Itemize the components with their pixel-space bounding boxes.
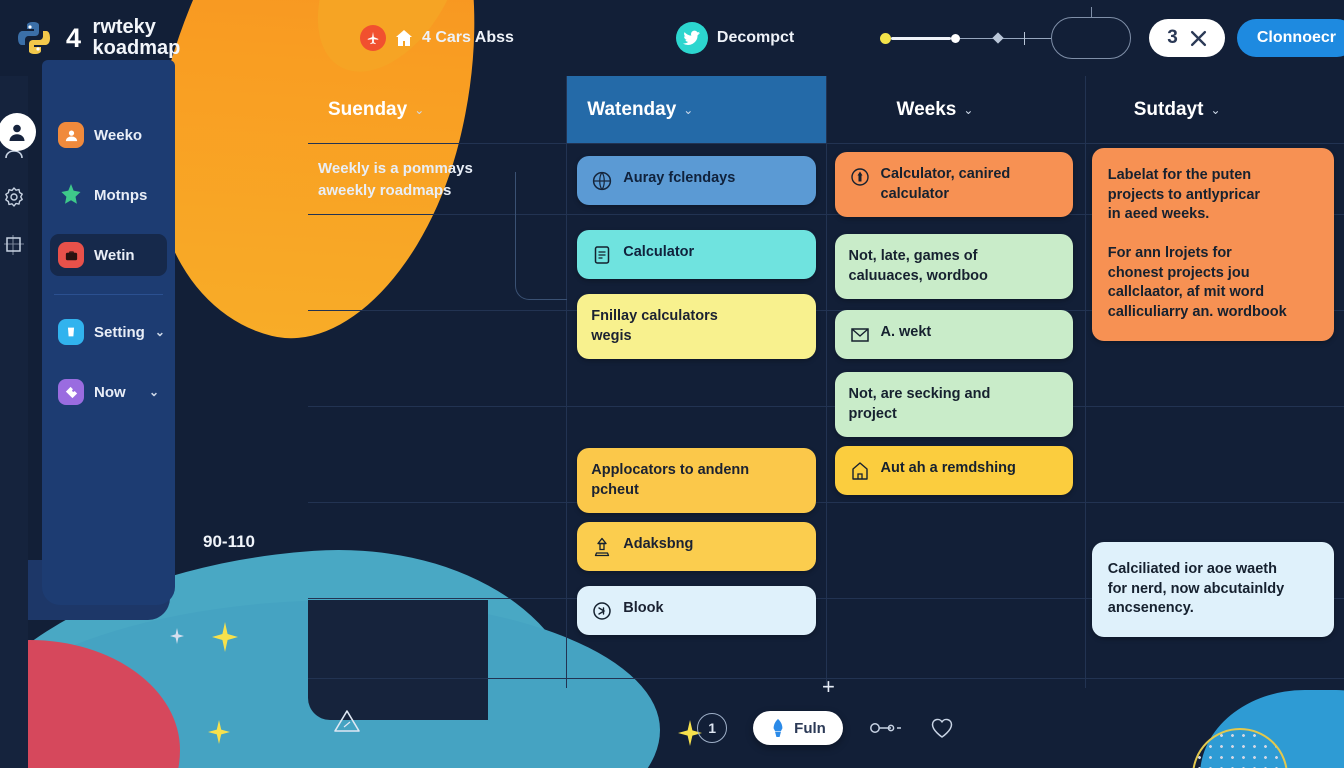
card-title: A. wekt [881,323,1059,343]
top-bar: 4 rwteky koadmap 4 Cars Abss Decompct [0,0,1344,76]
chevron-down-icon[interactable]: ⌄ [155,325,165,339]
progress-slider[interactable]: 3 Clonnoecr [880,17,1344,59]
card-title: Labelat for the puten projects to antlyp… [1108,166,1318,323]
card-labelat-puten[interactable]: Labelat for the puten projects to antlyp… [1092,148,1334,341]
slider-diamond-node[interactable] [993,32,1004,43]
sidebar-item-setting-label: Setting [94,324,145,341]
icon-rail [0,76,28,768]
cup-blue-icon [58,319,84,345]
chevron-down-icon[interactable]: ⌄ [963,103,973,117]
avatar-icon [6,121,28,143]
card-calculator-canired[interactable]: Calculator, canired calculator [835,152,1073,217]
board-column-suenday: Suenday ⌄ Weekly is a pommays aweekly ro… [308,76,567,688]
rocket-icon [770,719,786,737]
card-title: Applocators to andenn pcheut [591,461,801,500]
sidebar-item-weeko-label: Weeko [94,127,142,144]
card-a-wekt[interactable]: A. wekt [835,310,1073,359]
airplane-badge-icon [360,25,386,51]
board-column-sutdayt: Sutdayt ⌄ Labelat for the puten projects… [1086,76,1344,688]
column-intro-text: Weekly is a pommays aweekly roadmaps [318,158,556,202]
topbar-item-cars[interactable]: 4 Cars Abss [360,25,514,51]
camera-red-icon [58,242,84,268]
chevron-down-icon[interactable]: ⌄ [414,103,424,117]
card-not-are-secking[interactable]: Not, are secking and project [835,372,1073,437]
user-orange-icon [58,122,84,148]
card-title: Calciliated ior aoe waeth for nerd, now … [1108,560,1318,619]
house-icon [849,460,871,482]
card-title: Aut ah a remdshing [881,459,1059,479]
slider-node[interactable] [951,34,960,43]
chevron-down-icon[interactable]: ⌄ [149,385,159,399]
column-header-suenday[interactable]: Suenday ⌄ [308,76,566,144]
frame-icon[interactable] [3,234,25,256]
bottom-bar: + 1 Fuln [308,688,1344,768]
brand-number: 4 [66,23,81,54]
brand[interactable]: 4 rwteky koadmap [0,17,310,59]
card-title: Blook [623,599,801,619]
board-column-weeks: Weeks ⌄ Calculator, canired calculator [827,76,1086,688]
count-pill[interactable]: 3 [1149,19,1225,57]
circle-arrow-icon [591,600,613,622]
sidebar-item-now-label: Now [94,384,126,401]
sidebar-item-wetin[interactable]: Wetin [50,234,167,276]
twitter-badge-icon [676,22,708,54]
card-title: Calculator [623,243,801,263]
card-calciliated[interactable]: Calciliated ior aoe waeth for nerd, now … [1092,542,1334,637]
sparkle-small-icon [170,628,184,644]
column-header-sutdayt[interactable]: Sutdayt ⌄ [1086,76,1344,144]
card-adaksbng[interactable]: Adaksbng [577,522,815,571]
add-icon[interactable]: + [822,674,835,700]
sidebar-item-now[interactable]: Now ⌄ [50,371,167,413]
sidebar-item-weeko[interactable]: Weeko [50,114,167,156]
gear-icon[interactable] [3,186,25,208]
close-icon[interactable] [1190,30,1207,47]
run-button-label: Fuln [794,720,826,737]
column-title: Weeks [897,99,957,121]
row-gridlines [308,144,566,688]
board: Suenday ⌄ Weekly is a pommays aweekly ro… [308,76,1344,688]
home-icon [395,29,413,47]
card-title: Auray fclendays [623,169,801,189]
sparkle-icon [208,720,230,744]
card-title: Fnillay calculators wegis [591,307,801,346]
card-blook[interactable]: Blook [577,586,815,635]
lamp-icon [591,536,613,558]
person-run-icon [849,166,871,188]
board-column-watenday: Watenday ⌄ Auray fclendays [567,76,826,688]
card-fnillay-calculators[interactable]: Fnillay calculators wegis [577,294,815,359]
avatar[interactable] [0,113,36,151]
envelope-icon [849,324,871,346]
topbar-item-decompct[interactable]: Decompct [676,22,794,54]
sidebar-item-motnps-label: Motnps [94,187,147,204]
card-not-late-games[interactable]: Not, late, games of caluuaces, wordboo [835,234,1073,299]
heart-icon[interactable] [929,715,955,741]
sparkle-icon [212,622,238,652]
card-auray-fclendays[interactable]: Auray fclendays [577,156,815,205]
card-title: Not, are secking and project [849,385,1059,424]
tag-purple-icon [58,379,84,405]
count-value: 3 [1167,27,1178,49]
card-calculator[interactable]: Calculator [577,230,815,279]
card-aut-ah-remdshing[interactable]: Aut ah a remdshing [835,446,1073,495]
step-badge[interactable]: 1 [697,713,727,743]
sidebar-item-motnps[interactable]: Motnps [50,174,167,216]
brand-line-1: rwteky [93,17,181,38]
app-root: 4 rwteky koadmap 4 Cars Abss Decompct [0,0,1344,768]
sidebar-divider [54,294,163,295]
topbar-item-cars-label: 4 Cars Abss [422,29,514,47]
sidebar-item-wetin-label: Wetin [94,247,135,264]
sidebar-item-setting[interactable]: Setting ⌄ [50,311,167,353]
card-applocators[interactable]: Applocators to andenn pcheut [577,448,815,513]
brand-line-2: koadmap [93,38,181,59]
column-header-watenday[interactable]: Watenday ⌄ [567,76,825,144]
chevron-down-icon[interactable]: ⌄ [1210,103,1220,117]
range-label: 90-110 [203,532,255,552]
column-header-weeks[interactable]: Weeks ⌄ [827,76,1085,144]
star-green-icon [58,182,84,208]
python-logo-icon [14,18,54,58]
slider-end-pill[interactable] [1051,17,1131,59]
column-title: Sutdayt [1134,99,1204,121]
topbar-item-decompct-label: Decompct [717,29,794,47]
clipboard-icon [591,244,613,266]
column-title: Suenday [328,99,407,121]
connect-button[interactable]: Clonnoecr [1237,19,1344,57]
run-button[interactable]: Fuln [753,711,843,745]
sidebar: Weeko Motnps Wetin Setting ⌄ [42,60,175,605]
key-icon[interactable] [869,721,903,735]
column-title: Watenday [587,99,676,121]
card-title: Not, late, games of caluuaces, wordboo [849,247,1059,286]
slider-yellow-dot[interactable] [880,33,891,44]
chevron-down-icon[interactable]: ⌄ [683,103,693,117]
card-title: Calculator, canired calculator [881,165,1059,204]
card-title: Adaksbng [623,535,801,555]
globe-icon [591,170,613,192]
